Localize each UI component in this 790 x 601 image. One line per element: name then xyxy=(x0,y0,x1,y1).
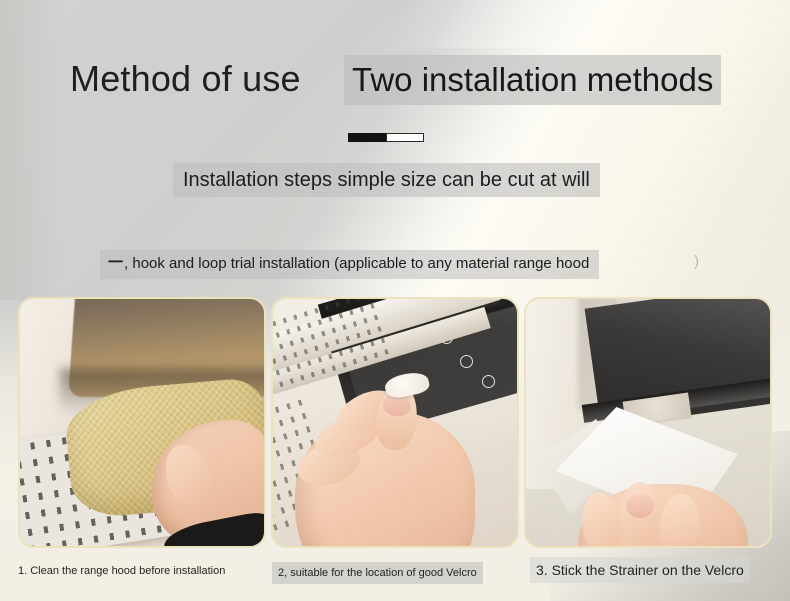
header-title-row: Method of use Two installation methods xyxy=(0,55,790,105)
method-one-heading: 一, hook and loop trial installation (app… xyxy=(100,250,599,279)
divider-segment-empty xyxy=(386,133,424,142)
step-photo-1[interactable] xyxy=(18,297,266,548)
caption-step-1: 1. Clean the range hood before installat… xyxy=(18,562,225,580)
caption-step-3: 3. Stick the Strainer on the Velcro xyxy=(530,557,750,583)
step-photo-2[interactable] xyxy=(271,297,519,548)
step-photo-3[interactable] xyxy=(524,297,772,548)
method-one-trailing-paren: ) xyxy=(694,250,699,274)
photo-2-scene xyxy=(273,299,517,546)
page-title: Method of use xyxy=(70,55,301,103)
photo-3-fingernail xyxy=(626,494,654,518)
step-photo-row xyxy=(18,297,772,548)
method-number-marker: 一 xyxy=(108,251,123,275)
photo-1-scene xyxy=(20,299,264,546)
page-subtitle: Two installation methods xyxy=(344,55,721,105)
divider-segment-filled xyxy=(348,133,386,142)
lead-text: Installation steps simple size can be cu… xyxy=(173,163,600,197)
photo-2-fan-icon xyxy=(460,355,473,368)
caption-row: 1. Clean the range hood before installat… xyxy=(0,556,790,592)
photo-3-scene xyxy=(526,299,770,546)
method-one-text: , hook and loop trial installation (appl… xyxy=(124,255,589,272)
photo-2-timer-icon xyxy=(482,375,495,388)
caption-step-2: 2, suitable for the location of good Vel… xyxy=(272,562,483,584)
section-divider xyxy=(348,133,424,142)
poster-root: 油烟机使用方法 Method of use Two installation m… xyxy=(0,0,790,601)
